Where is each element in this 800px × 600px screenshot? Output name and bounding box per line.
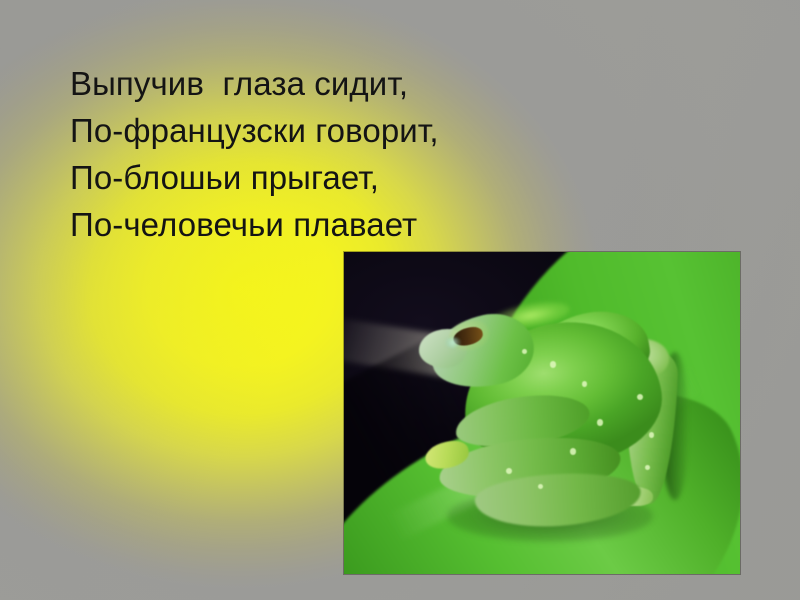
frog-speck (570, 448, 576, 454)
riddle-line-3: По-блошьи прыгает, (70, 154, 710, 201)
frog-figure (344, 252, 740, 574)
frog-speck (506, 468, 512, 474)
frog-speck (582, 381, 588, 387)
frog-eye-glint (445, 337, 461, 347)
riddle-line-2: По-французски говорит, (70, 107, 710, 154)
frog-speck (645, 465, 650, 470)
slide-canvas: Выпучив глаза сидит, По-французски говор… (0, 0, 800, 600)
riddle-line-1: Выпучив глаза сидит, (70, 60, 710, 107)
frog-speck (597, 419, 603, 425)
riddle-text-block: Выпучив глаза сидит, По-французски говор… (70, 60, 710, 248)
riddle-line-4: По-человечьи плавает (70, 201, 710, 248)
frog-speck (637, 394, 643, 400)
frog-photo (344, 252, 740, 574)
